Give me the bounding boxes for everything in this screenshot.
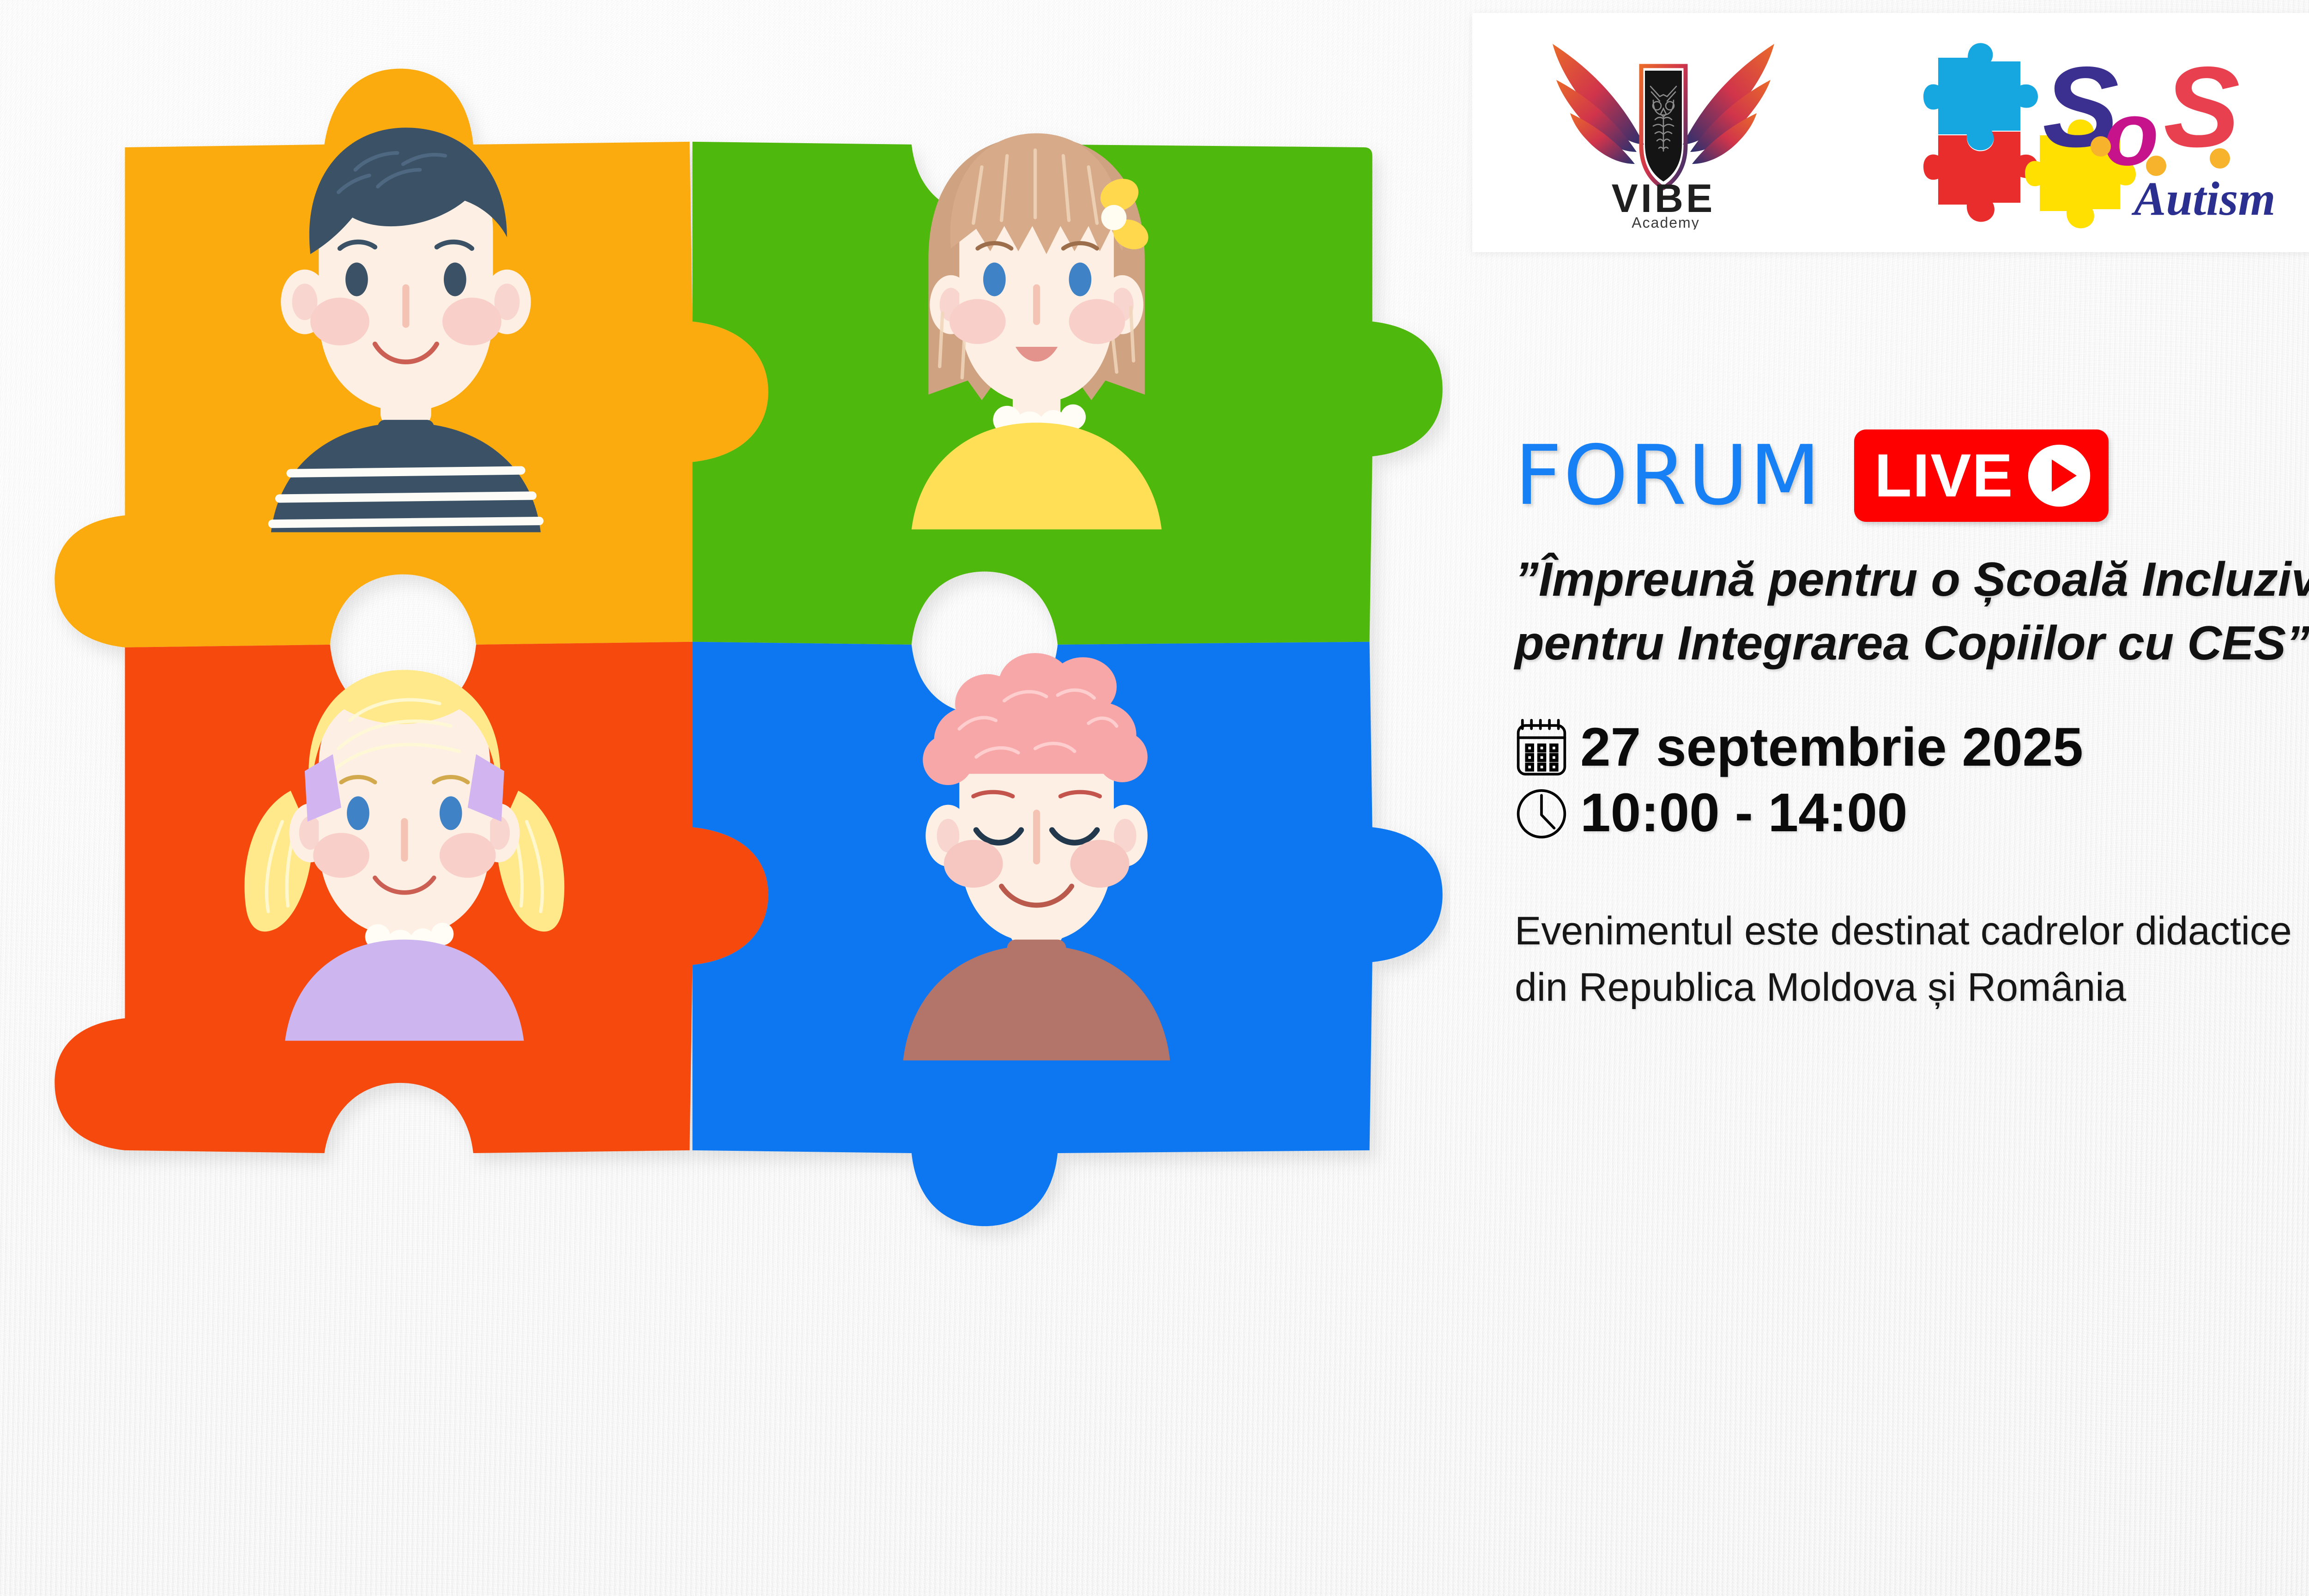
- page-title: FORUM: [1515, 435, 1822, 517]
- vibe-academy-emblem: VIBE Academy: [1534, 36, 1793, 230]
- event-time: 10:00 - 14:00: [1580, 786, 1907, 840]
- sos-autism-emblem: S o S Autism: [1922, 31, 2309, 234]
- live-badge[interactable]: LIVE: [1854, 429, 2109, 522]
- svg-text:Autism: Autism: [2131, 172, 2275, 225]
- event-subtitle-line-1: ”Împreună pentru o Școală Incluzivă - St…: [1515, 553, 2309, 606]
- event-subtitle-line-2: pentru Integrarea Copiilor cu CES”: [1515, 617, 2309, 670]
- calendar-icon: [1515, 718, 1568, 776]
- puzzle-illustration: [42, 46, 1450, 1556]
- clock-icon: [1515, 784, 1568, 842]
- svg-text:S: S: [2164, 42, 2240, 171]
- forum-live-row: FORUM LIVE: [1515, 429, 2309, 522]
- audience-note: Evenimentul este destinat cadrelor didac…: [1515, 903, 2309, 1016]
- live-badge-label: LIVE: [1874, 445, 2013, 506]
- play-icon: [2025, 442, 2093, 509]
- child-girl-top-right: [912, 133, 1161, 530]
- event-date-row: 27 septembrie 2025: [1515, 718, 2309, 776]
- audience-note-line-1: Evenimentul este destinat cadrelor didac…: [1515, 903, 2309, 959]
- audience-note-line-2: din Republica Moldova și România: [1515, 959, 2309, 1016]
- logo-vibe-academy: VIBE Academy: [1520, 13, 1807, 252]
- svg-text:Academy: Academy: [1632, 214, 1700, 230]
- event-datetime: 27 septembrie 2025 10:00 - 14:00: [1515, 718, 2309, 842]
- logo-sos-autism: S o S Autism: [1903, 13, 2309, 252]
- event-date: 27 septembrie 2025: [1580, 720, 2083, 774]
- logo-banner: VIBE Academy S o S Autism: [1472, 13, 2309, 252]
- event-time-row: 10:00 - 14:00: [1515, 784, 2309, 842]
- event-content: FORUM LIVE ”Împreună pentru o Școală Inc…: [1515, 429, 2309, 1016]
- event-subtitle: ”Împreună pentru o Școală Incluzivă - St…: [1515, 548, 2309, 676]
